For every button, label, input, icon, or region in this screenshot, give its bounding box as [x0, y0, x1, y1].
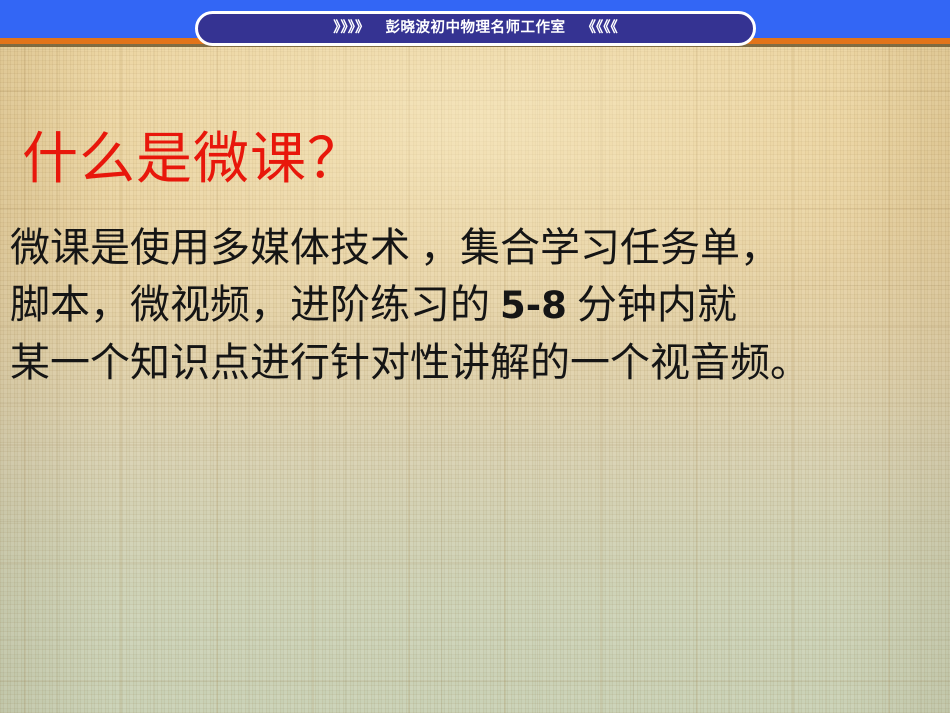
header-title-pill: 》》》》 彭晓波初中物理名师工作室 《《《《: [195, 11, 756, 46]
slide-heading: 什么是微课？: [22, 132, 364, 188]
body-line-2-suffix: 分钟内就: [567, 282, 737, 327]
slide-content-area: 什么是微课？ 微课是使用多媒体技术 ，集合学习任务单， 脚本，微视频，进阶练习的…: [0, 47, 950, 713]
slide-body-text: 微课是使用多媒体技术 ，集合学习任务单， 脚本，微视频，进阶练习的 5-8 分钟…: [10, 219, 930, 391]
body-line-2: 脚本，微视频，进阶练习的 5-8 分钟内就: [10, 276, 930, 334]
duration-value: 5-8: [500, 284, 567, 327]
body-line-2-prefix: 脚本，微视频，进阶练习的: [10, 282, 500, 327]
presentation-slide: 》》》》 彭晓波初中物理名师工作室 《《《《 什么是微课？ 微课是使用多媒体技术…: [0, 0, 950, 713]
body-line-3: 某一个知识点进行针对性讲解的一个视音频。: [10, 334, 930, 391]
body-line-1: 微课是使用多媒体技术 ，集合学习任务单，: [10, 219, 930, 276]
workshop-title: 彭晓波初中物理名师工作室: [386, 21, 566, 36]
double-angle-left-arrows-icon: 《《《《: [582, 21, 618, 36]
double-angle-right-arrows-icon: 》》》》: [333, 21, 369, 36]
